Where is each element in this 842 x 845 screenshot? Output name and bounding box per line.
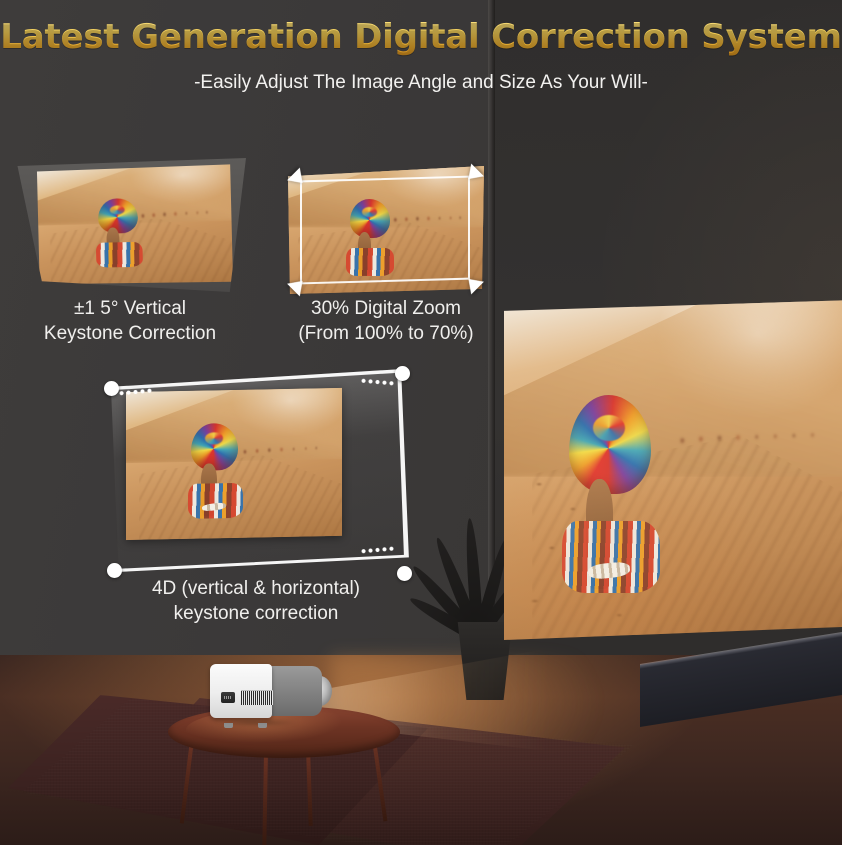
page-subtitle: -Easily Adjust The Image Angle and Size …	[0, 72, 842, 94]
striped-headwrap	[98, 198, 138, 234]
projector-foot	[258, 723, 267, 728]
keystone-handle-top-right[interactable]	[395, 366, 410, 381]
headwrap-swirl	[205, 432, 223, 445]
product-feature-graphic: Latest Generation Digital Correction Sys…	[0, 0, 842, 845]
caption-line-2: keystone correction	[96, 601, 416, 626]
caption-line-1: 30% Digital Zoom	[272, 296, 500, 321]
projector-vent-grille	[241, 690, 273, 705]
keystone-handle-bottom-right[interactable]	[397, 566, 412, 581]
projector-ir-window-icon	[221, 692, 235, 703]
camel-rider	[186, 422, 246, 515]
camel-saddle-blanket	[562, 521, 659, 593]
thumb-photo	[126, 388, 342, 540]
camel-caravan	[673, 422, 828, 453]
caption-vertical-keystone: ±1 5° Vertical Keystone Correction	[14, 296, 246, 346]
projected-screen	[504, 300, 842, 640]
zoom-target-frame	[300, 176, 470, 285]
feature-thumb-digital-zoom	[286, 166, 484, 294]
thumb-photo	[37, 164, 233, 284]
striped-headwrap	[569, 395, 651, 494]
caption-line-1: ±1 5° Vertical	[14, 296, 246, 321]
table-leg	[180, 740, 194, 824]
keystone-handle-top-left[interactable]	[104, 381, 119, 396]
projected-photo	[504, 300, 842, 640]
projector-front-body	[210, 664, 272, 718]
caption-line-2: (From 100% to 70%)	[272, 321, 500, 346]
keystone-corrected-image	[37, 164, 233, 284]
camel-saddle-blanket	[188, 483, 244, 519]
projector-device	[206, 662, 324, 724]
camel-saddle-blanket	[96, 242, 143, 268]
table-leg	[372, 740, 387, 822]
headwrap-swirl	[110, 205, 125, 214]
camel-rider	[560, 395, 666, 585]
projector-foot	[224, 723, 233, 728]
feature-thumb-vertical-keystone	[14, 158, 246, 292]
keystone-corrected-image	[126, 388, 342, 540]
caption-digital-zoom: 30% Digital Zoom (From 100% to 70%)	[272, 296, 500, 346]
table-leg	[306, 748, 313, 826]
striped-headwrap	[191, 422, 238, 471]
page-title: Latest Generation Digital Correction Sys…	[0, 17, 842, 57]
caption-line-2: Keystone Correction	[14, 321, 246, 346]
caption-4d-keystone: 4D (vertical & horizontal) keystone corr…	[96, 576, 416, 626]
camel-caravan	[136, 207, 215, 221]
headwrap-swirl	[593, 415, 624, 441]
caption-line-1: 4D (vertical & horizontal)	[96, 576, 416, 601]
camel-rider	[94, 198, 146, 266]
keystone-handle-bottom-left[interactable]	[107, 563, 122, 578]
feature-thumb-4d-keystone	[100, 366, 412, 574]
camel-caravan	[238, 442, 324, 458]
